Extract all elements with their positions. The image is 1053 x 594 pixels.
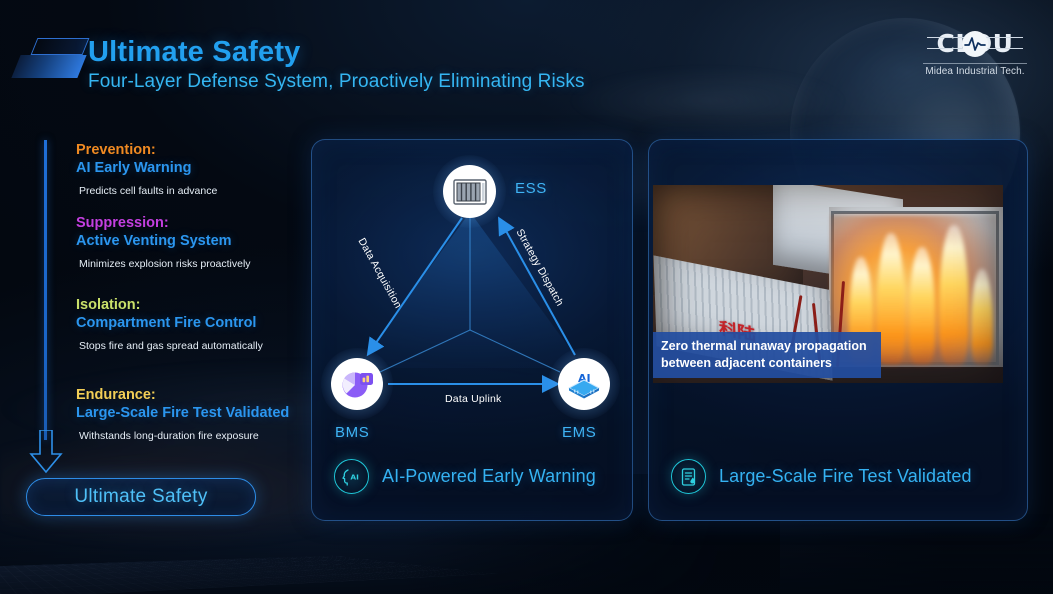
node-ess[interactable] [443, 165, 496, 218]
edge-label-strategy-dispatch: Strategy Dispatch [514, 227, 566, 308]
battery-rack-icon [453, 179, 487, 205]
node-label-ess: ESS [515, 180, 547, 197]
photo-caption: Zero thermal runaway propagation between… [653, 332, 881, 378]
pie-chart-icon [340, 369, 374, 399]
slide-root: Ultimate Safety Four-Layer Defense Syste… [0, 0, 1053, 594]
edge-label-data-acquisition: Data Acquisition [356, 236, 405, 310]
node-label-bms: BMS [335, 424, 369, 441]
node-bms[interactable] [331, 358, 383, 410]
node-label-ems: EMS [562, 424, 596, 441]
fire-report-icon [671, 459, 706, 494]
ai-chip-icon: AI [566, 369, 602, 399]
node-ems[interactable]: AI [558, 358, 610, 410]
panel-right-footer-label: Large-Scale Fire Test Validated [719, 466, 972, 487]
panel-right-footer: Large-Scale Fire Test Validated [671, 459, 1007, 494]
edge-label-data-uplink: Data Uplink [445, 393, 501, 405]
